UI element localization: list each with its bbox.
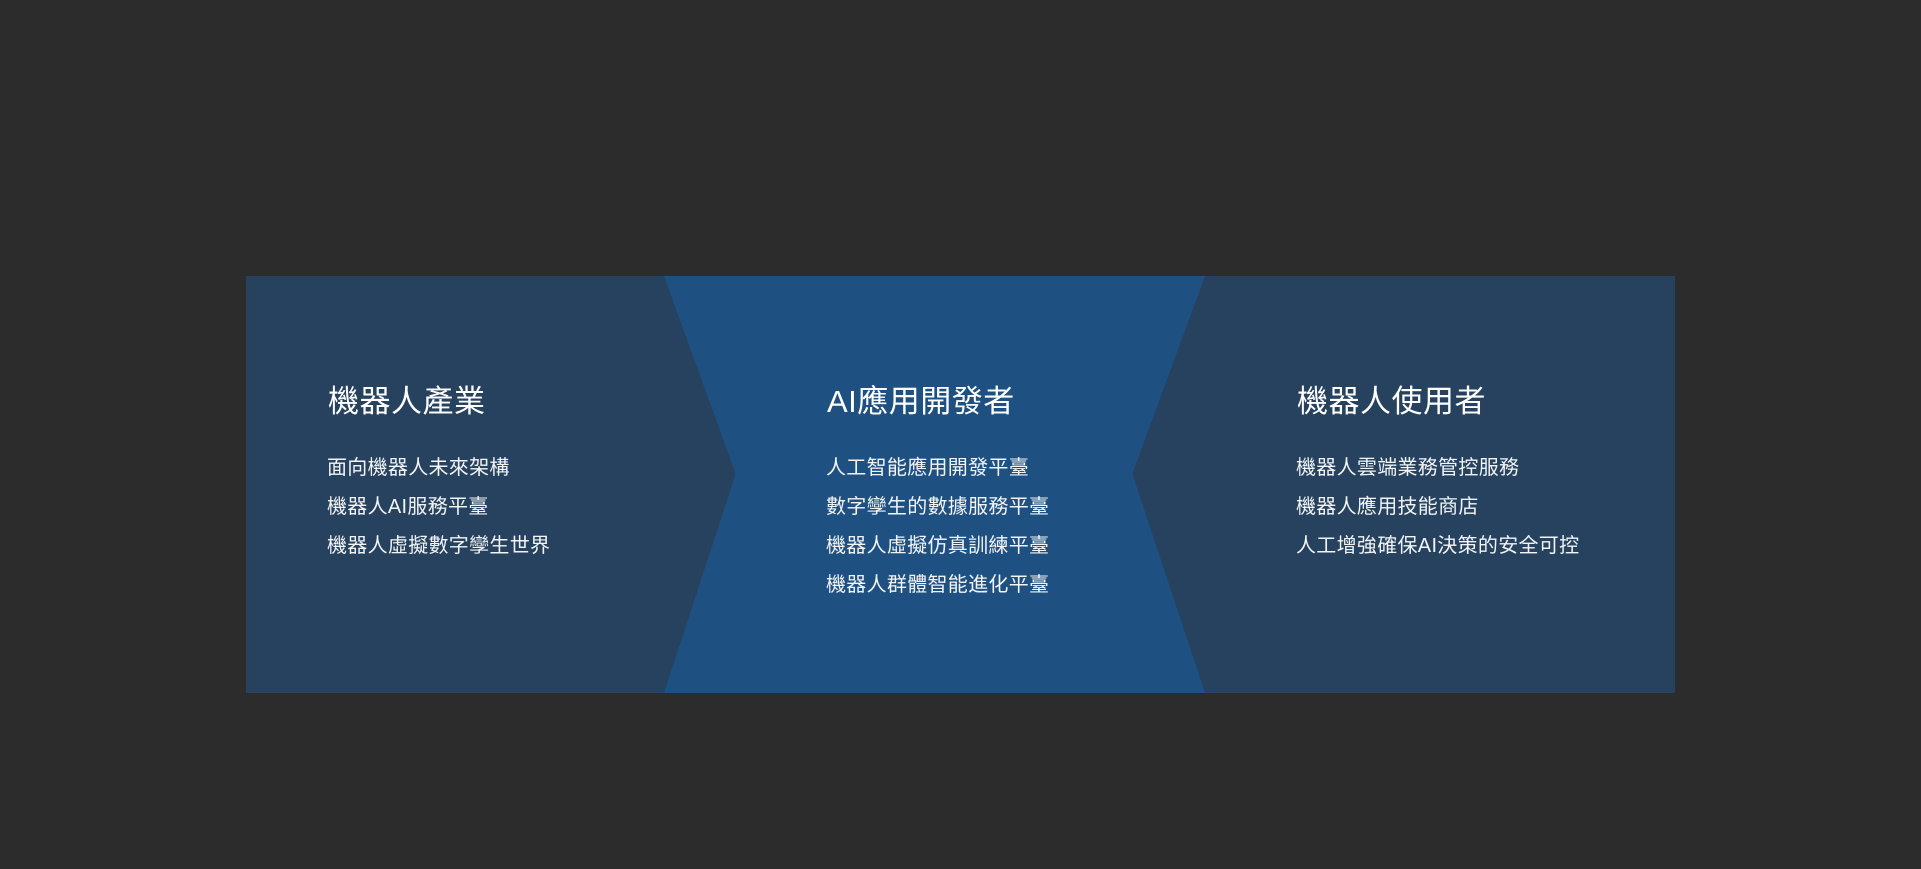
column-title-robot-user: 機器人使用者 (1297, 386, 1486, 417)
list-item: 機器人應用技能商店 (1296, 488, 1579, 527)
list-item: 機器人雲端業務管控服務 (1296, 449, 1579, 488)
list-item: 機器人群體智能進化平臺 (826, 566, 1049, 605)
list-item: 數字孿生的數據服務平臺 (826, 488, 1049, 527)
list-item: 人工智能應用開發平臺 (826, 449, 1049, 488)
list-item: 機器人虛擬仿真訓練平臺 (826, 527, 1049, 566)
column-item-list-robot-industry: 面向機器人未來架構 機器人AI服務平臺 機器人虛擬數字孿生世界 (327, 449, 550, 566)
list-item: 機器人AI服務平臺 (327, 488, 550, 527)
list-item: 機器人虛擬數字孿生世界 (327, 527, 550, 566)
column-item-list-robot-user: 機器人雲端業務管控服務 機器人應用技能商店 人工增強確保AI決策的安全可控 (1296, 449, 1579, 566)
column-title-robot-industry: 機器人產業 (328, 386, 486, 417)
column-item-list-ai-app-developer: 人工智能應用開發平臺 數字孿生的數據服務平臺 機器人虛擬仿真訓練平臺 機器人群體… (826, 449, 1049, 605)
columns-container: 機器人產業 面向機器人未來架構 機器人AI服務平臺 機器人虛擬數字孿生世界 AI… (246, 276, 1675, 693)
chevron-banner: 機器人產業 面向機器人未來架構 機器人AI服務平臺 機器人虛擬數字孿生世界 AI… (246, 276, 1675, 693)
list-item: 人工增強確保AI決策的安全可控 (1296, 527, 1579, 566)
column-title-ai-app-developer: AI應用開發者 (827, 386, 1015, 417)
list-item: 面向機器人未來架構 (327, 449, 550, 488)
